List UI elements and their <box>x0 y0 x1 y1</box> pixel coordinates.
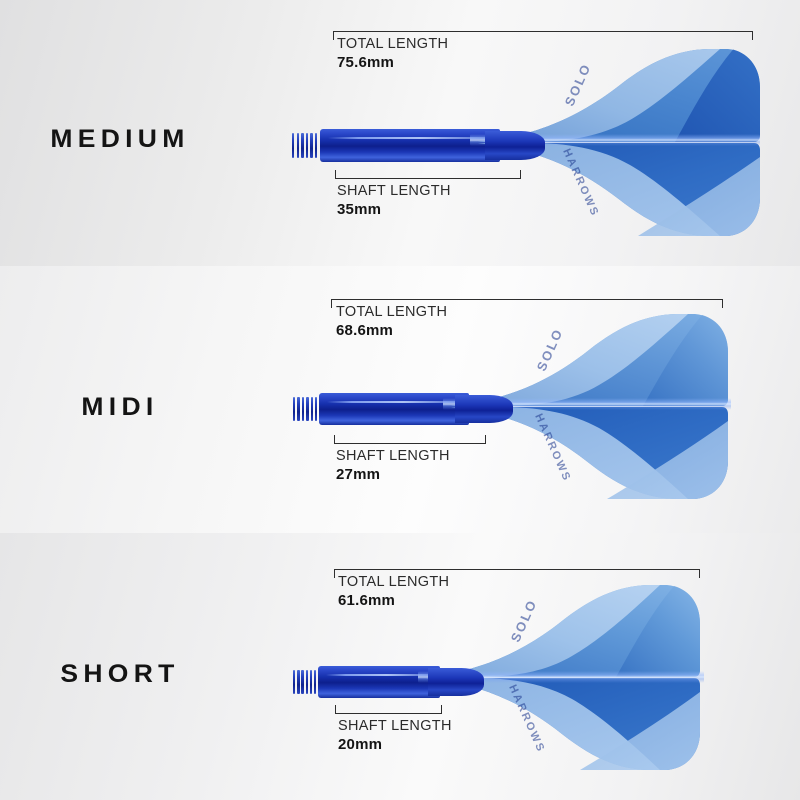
shaft-length-value: 27mm <box>336 465 450 484</box>
size-panel-medium: MEDIUM TOTAL LENGTH 75.6mm SHAFT LENGTH … <box>0 0 800 266</box>
size-label-midi: MIDI <box>0 393 242 422</box>
shaft-thread-midi <box>293 397 320 421</box>
size-label-short: SHORT <box>0 660 242 689</box>
shaft-length-text-medium: SHAFT LENGTH 35mm <box>337 183 451 219</box>
size-label-medium: MEDIUM <box>0 125 242 154</box>
total-length-caption: TOTAL LENGTH <box>337 36 448 53</box>
shaft-length-text-midi: SHAFT LENGTH 27mm <box>336 448 450 484</box>
total-length-text-medium: TOTAL LENGTH 75.6mm <box>337 36 448 72</box>
shaft-thread-short <box>293 670 319 694</box>
shaft-thread-medium <box>292 133 321 158</box>
total-length-text-midi: TOTAL LENGTH 68.6mm <box>336 304 447 340</box>
total-length-value: 75.6mm <box>337 53 448 72</box>
total-length-value: 68.6mm <box>336 321 447 340</box>
shaft-flare-medium <box>485 131 545 160</box>
size-panel-midi: MIDI TOTAL LENGTH 68.6mm SHAFT LENGTH 27… <box>0 266 800 533</box>
shaft-length-caption: SHAFT LENGTH <box>336 448 450 465</box>
shaft-flare-short <box>428 668 484 696</box>
shaft-length-value: 35mm <box>337 200 451 219</box>
product-spec-image: MEDIUM TOTAL LENGTH 75.6mm SHAFT LENGTH … <box>0 0 800 800</box>
size-panel-short: SHORT TOTAL LENGTH 61.6mm SHAFT LENGTH 2… <box>0 533 800 800</box>
shaft-flare-midi <box>455 395 513 423</box>
total-length-caption: TOTAL LENGTH <box>336 304 447 321</box>
shaft-length-caption: SHAFT LENGTH <box>337 183 451 200</box>
